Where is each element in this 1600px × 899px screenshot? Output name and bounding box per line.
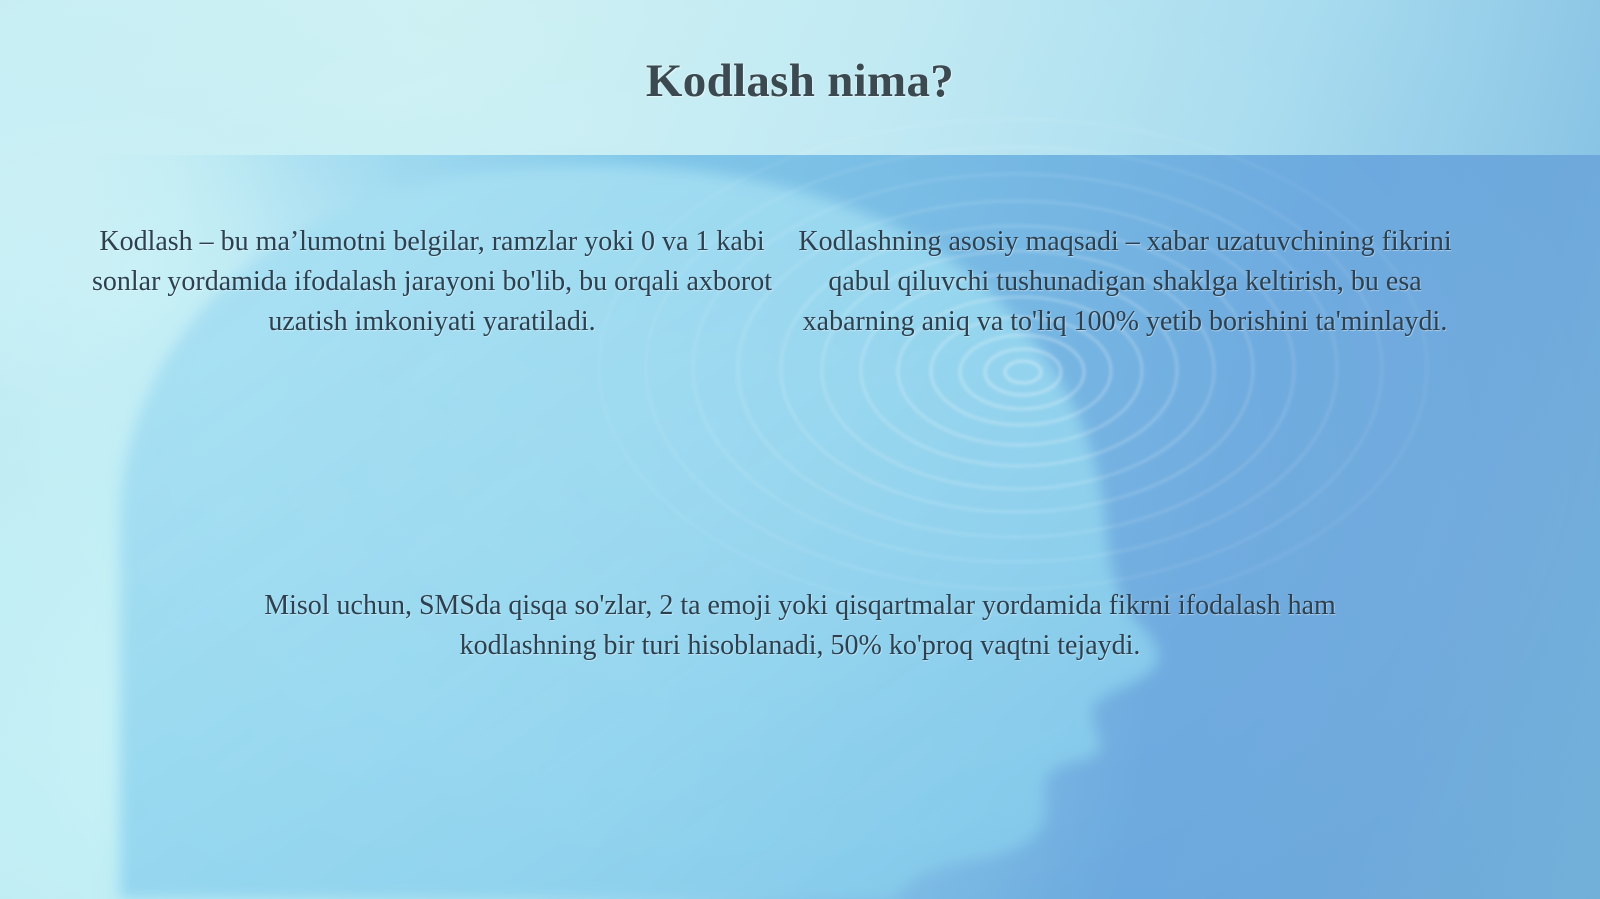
- text-block-definition: Kodlash – bu ma’lumotni belgilar, ramzla…: [92, 222, 772, 341]
- background-artwork: [0, 0, 1600, 899]
- page-title: Kodlash nima?: [0, 54, 1600, 108]
- slide-canvas: Kodlash nima? Kodlash – bu ma’lumotni be…: [0, 0, 1600, 899]
- background-base-gradient: [0, 0, 1600, 899]
- text-block-example: Misol uchun, SMSda qisqa so'zlar, 2 ta e…: [250, 586, 1350, 666]
- background-vignette: [0, 0, 1600, 899]
- background-light-bloom: [0, 0, 1600, 899]
- concentric-ripple-rings: [599, 119, 1427, 615]
- text-block-purpose: Kodlashning asosiy maqsadi – xabar uzatu…: [780, 222, 1470, 341]
